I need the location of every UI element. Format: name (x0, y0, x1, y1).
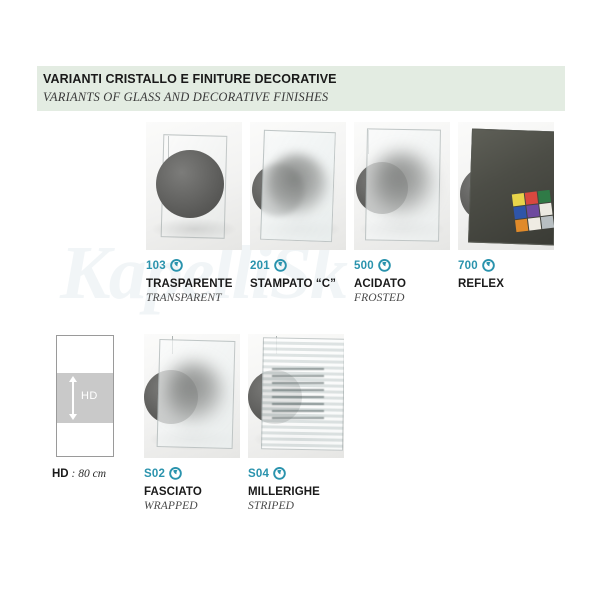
sample-card-s04[interactable]: S04 MILLERIGHE STRIPED (248, 334, 344, 512)
sample-code-row-s02: S02 (144, 466, 240, 481)
sample-name-en-500: FROSTED (354, 292, 450, 304)
sample-name-en-s04: STRIPED (248, 500, 344, 512)
sample-card-s02[interactable]: S02 FASCIATO WRAPPED (144, 334, 240, 512)
glass-drop-icon (482, 259, 495, 272)
sample-card-103[interactable]: 103 TRASPARENTE TRANSPARENT (146, 122, 242, 304)
sample-name-it-700: REFLEX (458, 278, 554, 290)
sample-card-500[interactable]: 500 ACIDATO FROSTED (354, 122, 450, 304)
sample-card-201[interactable]: 201 STAMPATO “C” (250, 122, 346, 292)
sample-photo-500 (354, 122, 450, 250)
section-title-en: VARIANTS OF GLASS AND DECORATIVE FINISHE… (43, 90, 328, 105)
sample-photo-700 (458, 122, 554, 250)
hd-height-diagram: HD (56, 335, 114, 457)
sample-code-s04: S04 (248, 468, 269, 480)
sample-code-row-500: 500 (354, 258, 450, 273)
sample-code-row-201: 201 (250, 258, 346, 273)
catalog-page: VARIANTI CRISTALLO E FINITURE DECORATIVE… (0, 0, 600, 600)
sample-photo-s04 (248, 334, 344, 458)
checker-swatch (526, 204, 539, 217)
sample-code-row-103: 103 (146, 258, 242, 273)
sample-card-700[interactable]: 700 REFLEX (458, 122, 554, 292)
sample-name-en-103: TRANSPARENT (146, 292, 242, 304)
sample-code-201: 201 (250, 260, 270, 272)
checker-swatch (539, 203, 552, 216)
checker-swatch (513, 206, 526, 219)
glass-drop-icon (169, 467, 182, 480)
checker-swatch (538, 190, 551, 203)
reference-sphere (156, 150, 224, 218)
wrapped-sphere-image (164, 362, 224, 424)
glass-drop-icon (170, 259, 183, 272)
sample-photo-103 (146, 122, 242, 250)
sample-name-it-201: STAMPATO “C” (250, 278, 346, 290)
sample-code-row-s04: S04 (248, 466, 344, 481)
hd-caption-code: HD (52, 468, 69, 480)
sample-name-en-s02: WRAPPED (144, 500, 240, 512)
glass-drop-icon (274, 259, 287, 272)
diffused-sphere-image (266, 154, 328, 216)
hd-band-label: HD (81, 390, 98, 402)
checker-swatch (512, 193, 525, 206)
hd-caption-sep: : (69, 468, 79, 480)
sample-code-103: 103 (146, 260, 166, 272)
checker-swatch (525, 191, 538, 204)
sample-name-it-s04: MILLERIGHE (248, 486, 344, 498)
checker-swatch (515, 219, 528, 232)
hd-caption-value: 80 cm (78, 468, 106, 480)
checker-swatch (541, 216, 554, 229)
sample-name-it-103: TRASPARENTE (146, 278, 242, 290)
frosted-sphere-image (370, 152, 434, 216)
glass-drop-icon (273, 467, 286, 480)
hd-double-arrow-icon (68, 376, 78, 420)
sample-name-it-s02: FASCIATO (144, 486, 240, 498)
striped-sphere-image (272, 368, 324, 422)
section-title-it: VARIANTI CRISTALLO E FINITURE DECORATIVE (43, 72, 337, 86)
sample-code-500: 500 (354, 260, 374, 272)
sample-code-s02: S02 (144, 468, 165, 480)
color-checker-chart (512, 190, 554, 232)
sample-code-700: 700 (458, 260, 478, 272)
hd-caption: HD : 80 cm (52, 468, 106, 480)
sample-photo-s02 (144, 334, 240, 458)
sample-name-it-500: ACIDATO (354, 278, 450, 290)
checker-swatch (528, 217, 541, 230)
sample-photo-201 (250, 122, 346, 250)
sample-code-row-700: 700 (458, 258, 554, 273)
glass-drop-icon (378, 259, 391, 272)
